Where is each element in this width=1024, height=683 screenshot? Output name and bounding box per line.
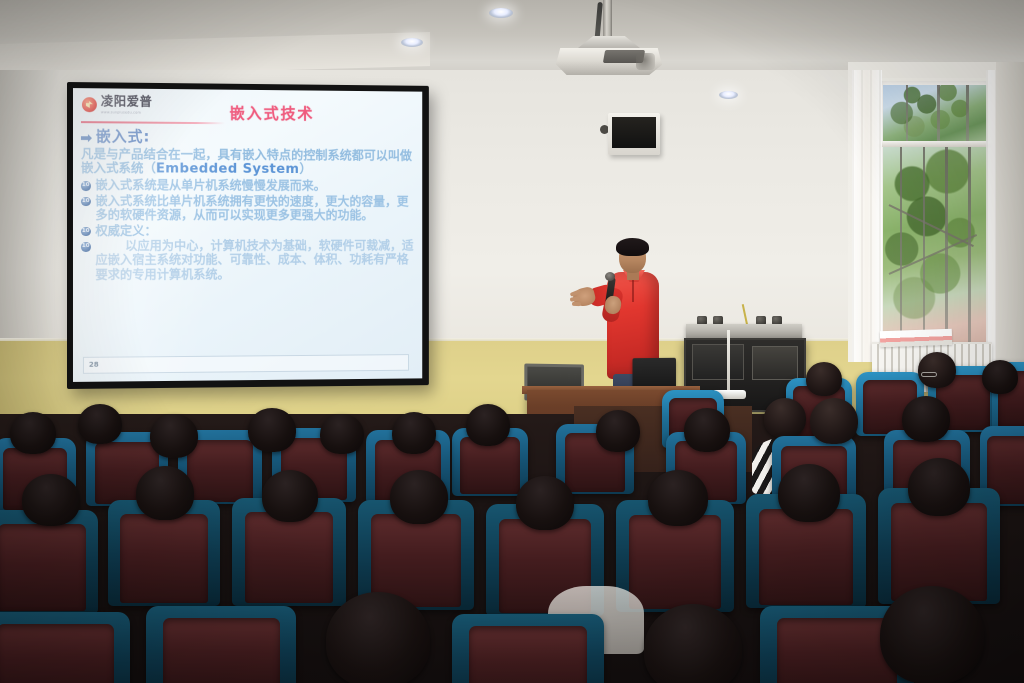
window-curtain-left — [852, 70, 882, 362]
audience-head — [392, 412, 436, 454]
audience-head — [10, 412, 56, 454]
projection-screen[interactable]: 凌阳爱普 www.sunplusedu.com 嵌入式技术 嵌入式: 凡是与产品… — [67, 82, 429, 389]
slide-bullet: 10 嵌入式系统是从单片机系统慢慢发展而来。 — [81, 178, 415, 193]
window-bar — [906, 85, 909, 141]
audience-head — [596, 410, 640, 452]
window-bar — [945, 147, 948, 351]
title-underline — [81, 121, 225, 124]
slide-bullet: 10 嵌入式系统比单片机系统拥有更快的速度，更大的容量，更多的软硬件资源，从而可… — [81, 194, 415, 223]
slide-footer-bar: 28 — [83, 354, 409, 374]
bullet-text: 嵌入式系统比单片机系统拥有更快的速度，更大的容量，更多的软硬件资源，从而可以实现… — [95, 194, 414, 223]
intro-tail: ） — [299, 162, 311, 177]
bullet-text: 权威定义： — [95, 224, 156, 238]
audience-head — [262, 470, 318, 522]
slide-surface: 凌阳爱普 www.sunplusedu.com 嵌入式技术 嵌入式: 凡是与产品… — [73, 88, 422, 382]
slide-bullet: 10 以应用为中心，计算机技术为基础，软硬件可裁减，适应嵌入宿主系统对功能、可靠… — [81, 239, 415, 281]
ceiling-downlight — [719, 91, 738, 99]
audience-head — [248, 408, 296, 452]
ceiling-downlight — [401, 38, 423, 47]
av-panel — [752, 346, 798, 380]
audience-head — [136, 466, 194, 520]
bullet-text: 以应用为中心，计算机技术为基础，软硬件可裁减，适应嵌入宿主系统对功能、可靠性、成… — [95, 239, 414, 281]
audience-head — [806, 362, 842, 396]
audience-head — [918, 352, 956, 388]
barred-window — [876, 78, 994, 358]
paper-stack — [880, 329, 953, 348]
av-panel — [692, 344, 744, 380]
bullet-marker-icon: 10 — [81, 227, 90, 236]
slide-intro-paragraph: 凡是与产品结合在一起，具有嵌入特点的控制系统都可以叫做嵌入式系统（Embedde… — [81, 147, 415, 178]
audience-head — [78, 404, 122, 444]
window-bar — [900, 147, 903, 351]
ceiling-downlight — [489, 8, 513, 18]
window-transom — [883, 85, 987, 141]
bullet-text: 嵌入式系统是从单片机系统慢慢发展而来。 — [95, 178, 325, 193]
audience-head — [908, 458, 970, 516]
audience-head — [22, 474, 80, 526]
audience-head — [810, 398, 858, 444]
audience-head — [150, 414, 198, 458]
bullet-marker-icon: 10 — [81, 181, 90, 191]
audience-head — [684, 408, 730, 452]
bullet-marker-icon: 10 — [81, 242, 90, 251]
window-bar — [966, 85, 969, 141]
presenter-hair — [616, 238, 649, 256]
slide-body: 嵌入式: 凡是与产品结合在一起，具有嵌入特点的控制系统都可以叫做嵌入式系统（Em… — [81, 128, 415, 283]
window-bar — [923, 147, 926, 351]
projector-mount-pole — [603, 0, 612, 40]
upper-wall-shadow — [0, 70, 60, 355]
projector-lens — [636, 53, 655, 70]
seat[interactable] — [452, 614, 604, 683]
seat[interactable] — [0, 612, 130, 683]
speaker-grille — [612, 117, 656, 148]
presenter-shirt-placket — [632, 280, 634, 302]
audience-head — [648, 470, 708, 526]
microphone-stand — [727, 330, 730, 396]
section-heading-text: 嵌入式: — [96, 128, 150, 146]
slide-page-number: 28 — [89, 361, 99, 369]
audience-head — [320, 414, 364, 454]
window-bar — [968, 147, 971, 351]
bullet-marker-icon: 10 — [81, 197, 90, 207]
audience-head — [516, 476, 574, 530]
right-wall-column — [996, 62, 1024, 362]
audience-head — [778, 464, 840, 522]
audience-head — [880, 586, 984, 683]
window-main-pane — [883, 147, 987, 351]
audience-head — [390, 470, 448, 524]
window-foliage — [883, 147, 987, 351]
intro-english-term: Embedded System — [156, 161, 300, 177]
presenter-finger — [572, 302, 581, 306]
audience-head — [326, 592, 430, 683]
audience-head — [466, 404, 510, 446]
lecture-hall-photo: 凌阳爱普 www.sunplusedu.com 嵌入式技术 嵌入式: 凡是与产品… — [0, 0, 1024, 683]
audience-head — [764, 398, 806, 438]
seat[interactable] — [146, 606, 296, 683]
audience-head — [982, 360, 1018, 394]
arrow-bullet-icon — [81, 134, 92, 142]
slide-bullet: 10 权威定义： — [81, 224, 415, 238]
audience-head — [902, 396, 950, 442]
slide-section-heading: 嵌入式: — [81, 128, 415, 147]
microphone-capsule — [605, 272, 615, 281]
window-foliage — [883, 85, 987, 141]
eyeglasses — [921, 372, 937, 377]
window-bar — [937, 85, 940, 141]
